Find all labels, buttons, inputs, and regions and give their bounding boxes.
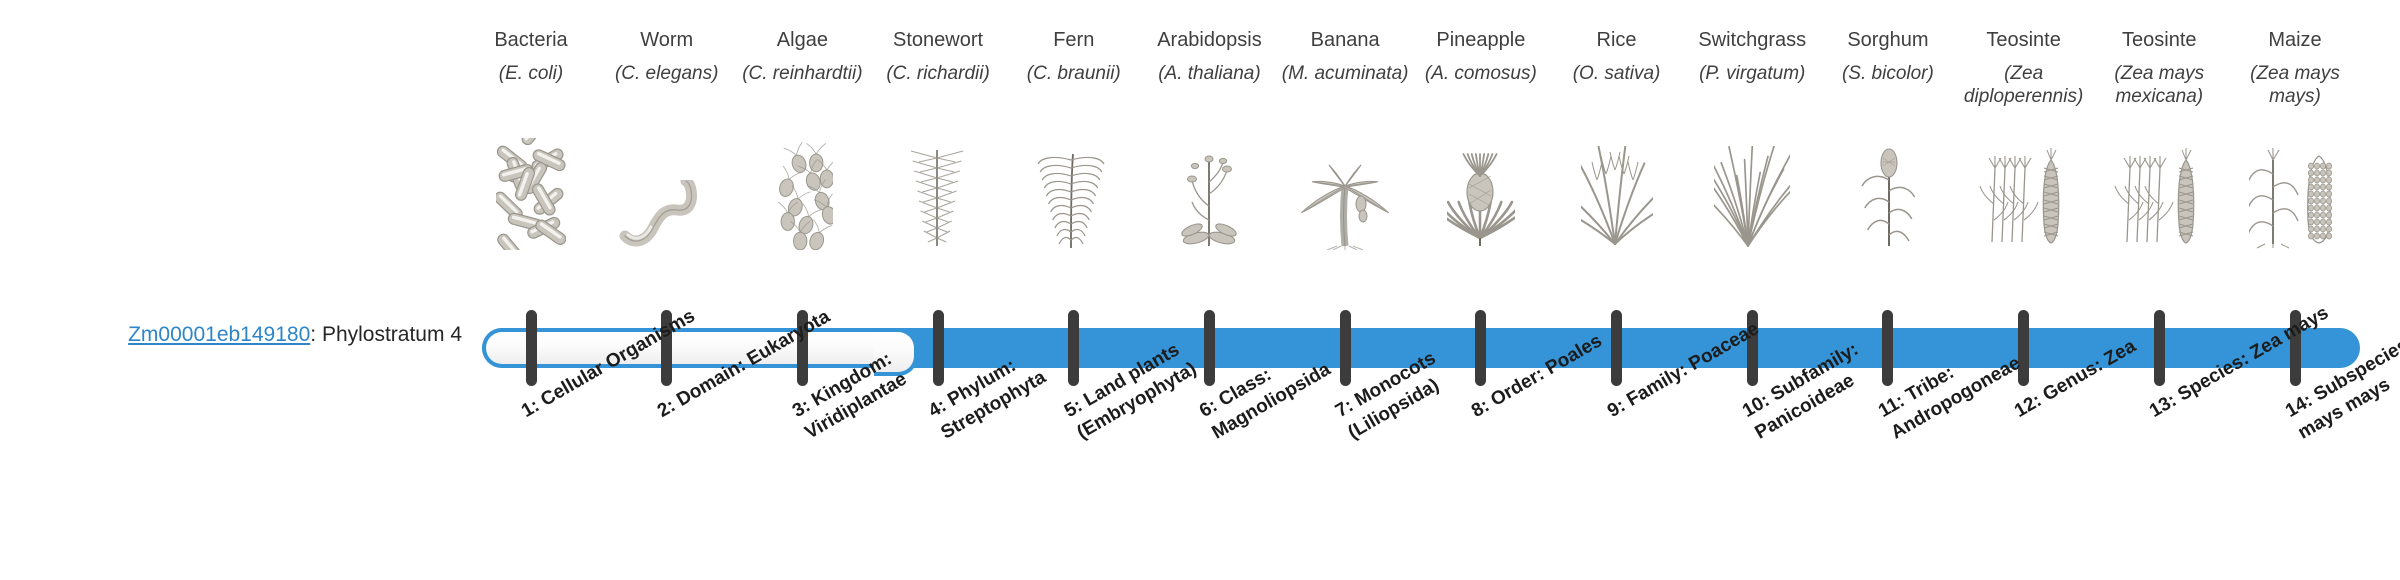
species-common-name: Switchgrass: [1684, 28, 1820, 54]
maize-plant-and-cob-icon: [2227, 160, 2363, 250]
species-scientific-name: (A. comosus): [1413, 62, 1549, 110]
stonewort-alga-icon: [870, 160, 1006, 250]
species-scientific-name: (O. sativa): [1549, 62, 1685, 110]
species-common-name: Stonewort: [870, 28, 1006, 54]
species-common-name: Teosinte: [2091, 28, 2227, 54]
species-common-name: Arabidopsis: [1141, 28, 1277, 54]
green-algae-cells-icon: [734, 160, 870, 250]
phylostratum-rank-number: 7:: [1332, 395, 1357, 422]
phylostratum-rank-number: 13:: [2146, 390, 2180, 422]
species-column: Stonewort(C. richardii): [870, 28, 1006, 110]
switchgrass-plant-icon: [1684, 160, 1820, 250]
species-scientific-name: (Zea diploperennis): [1956, 62, 2092, 110]
label-separator: :: [310, 323, 322, 346]
species-scientific-name: (E. coli): [463, 62, 599, 110]
rice-plant-icon: [1549, 160, 1685, 250]
species-column: Switchgrass(P. virgatum): [1684, 28, 1820, 110]
species-column: Bacteria(E. coli): [463, 28, 599, 110]
species-common-name: Rice: [1549, 28, 1685, 54]
species-scientific-name: (S. bicolor): [1820, 62, 1956, 110]
species-common-name: Maize: [2227, 28, 2363, 54]
species-column: Sorghum(S. bicolor): [1820, 28, 1956, 110]
species-common-name: Teosinte: [1956, 28, 2092, 54]
phylostratum-rank-number: 8:: [1468, 395, 1493, 422]
phylostratum-rank-name: Class: Magnoliopsida: [1209, 359, 1335, 444]
sorghum-plant-icon: [1820, 160, 1956, 250]
species-column: Teosinte(Zea diploperennis): [1956, 28, 2092, 110]
banana-plant-icon: [1277, 160, 1413, 250]
phylostratum-rank-number: 5:: [1061, 395, 1086, 422]
species-common-name: Sorghum: [1820, 28, 1956, 54]
phylostratigraphy-timeline: Zm00001eb149180: Phylostratum 4 Bacteria…: [0, 0, 2400, 580]
teosinte-plant-and-ear-icon: [2091, 160, 2227, 250]
species-column: Teosinte(Zea mays mexicana): [2091, 28, 2227, 110]
species-column: Worm(C. elegans): [599, 28, 735, 110]
species-scientific-name: (M. acuminata): [1277, 62, 1413, 110]
species-common-name: Pineapple: [1413, 28, 1549, 54]
species-scientific-name: (Zea mays mexicana): [2091, 62, 2227, 110]
species-column: Maize(Zea mays mays): [2227, 28, 2363, 110]
gene-id-link[interactable]: Zm00001eb149180: [128, 323, 310, 346]
phylostratum-unfilled-segment: [482, 328, 914, 368]
species-scientific-name: (P. virgatum): [1684, 62, 1820, 110]
bacteria-rods-icon: [463, 160, 599, 250]
species-common-name: Banana: [1277, 28, 1413, 54]
phylostratum-rank-name: Phylum: Streptophyta: [938, 355, 1050, 443]
species-column: Banana(M. acuminata): [1277, 28, 1413, 110]
gene-row-label: Zm00001eb149180: Phylostratum 4: [0, 322, 462, 348]
species-scientific-name: (C. richardii): [870, 62, 1006, 110]
species-common-name: Bacteria: [463, 28, 599, 54]
species-common-name: Worm: [599, 28, 735, 54]
pineapple-plant-icon: [1413, 160, 1549, 250]
phylostratum-rank-number: 9:: [1604, 395, 1629, 422]
species-scientific-name: (A. thaliana): [1141, 62, 1277, 110]
species-column: Arabidopsis(A. thaliana): [1141, 28, 1277, 110]
phylostratum-tick[interactable]: [526, 310, 537, 386]
species-column: Rice(O. sativa): [1549, 28, 1685, 110]
nematode-worm-icon: [599, 160, 735, 250]
fern-frond-icon: [1006, 160, 1142, 250]
species-common-name: Algae: [734, 28, 870, 54]
phylostratum-rank-number: 12:: [2011, 390, 2045, 422]
phylostratum-rank-number: 4:: [925, 395, 950, 422]
phylostratum-rank-number: 1:: [518, 395, 543, 422]
species-scientific-name: (C. reinhardtii): [734, 62, 870, 110]
species-column: Pineapple(A. comosus): [1413, 28, 1549, 110]
species-scientific-name: (C. elegans): [599, 62, 735, 110]
arabidopsis-plant-icon: [1141, 160, 1277, 250]
species-common-name: Fern: [1006, 28, 1142, 54]
teosinte-plant-and-ear-icon: [1956, 160, 2092, 250]
phylostratum-value: Phylostratum 4: [322, 323, 462, 346]
species-column: Algae(C. reinhardtii): [734, 28, 870, 110]
species-scientific-name: (Zea mays mays): [2227, 62, 2363, 110]
species-scientific-name: (C. braunii): [1006, 62, 1142, 110]
phylostratum-rank-number: 2:: [654, 395, 679, 422]
phylostratum-rank-number: 6:: [1196, 395, 1221, 422]
species-column: Fern(C. braunii): [1006, 28, 1142, 110]
phylostratum-rank-number: 3:: [789, 395, 814, 422]
